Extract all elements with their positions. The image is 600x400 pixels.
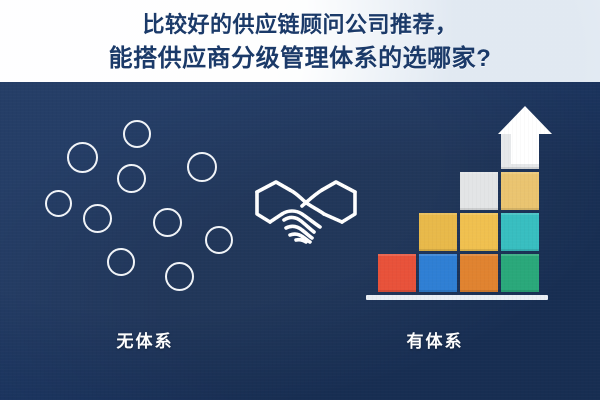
bar-column-1 [378,254,416,292]
chaos-circle [205,226,233,254]
poster-root: 比较好的供应链顾问公司推荐， 能搭供应商分级管理体系的选哪家? [0,0,600,400]
chaos-circle [67,142,98,173]
arrow-up-icon [496,104,554,166]
chaos-circle-cluster [45,120,255,300]
header-banner: 比较好的供应链顾问公司推荐， 能搭供应商分级管理体系的选哪家? [0,0,600,82]
chaos-circle [153,208,182,237]
chaos-circle [187,152,217,182]
page-title-line-2: 能搭供应商分级管理体系的选哪家? [109,42,492,76]
chart-block [460,254,498,292]
chart-block [460,172,498,210]
chaos-circle [45,190,72,217]
growth-bar-chart [378,104,554,300]
chart-block [501,254,539,292]
caption-no-system: 无体系 [0,327,290,352]
chart-block [460,213,498,251]
chart-block [501,213,539,251]
chaos-circle [123,120,151,148]
chart-block [419,254,457,292]
caption-has-system: 有体系 [310,327,560,352]
handshake-icon [252,170,360,248]
page-title-line-1: 比较好的供应链顾问公司推荐， [142,8,457,42]
illustration-stage: 无体系 有体系 [0,82,600,400]
chart-block [378,254,416,292]
chaos-circle [107,248,135,276]
chaos-circle [165,262,194,291]
chart-baseline [366,295,548,300]
chart-block [419,213,457,251]
bar-column-2 [419,213,457,292]
bar-column-3 [460,172,498,292]
chart-block [501,172,539,210]
chaos-circle [83,204,112,233]
chaos-circle [117,164,146,193]
